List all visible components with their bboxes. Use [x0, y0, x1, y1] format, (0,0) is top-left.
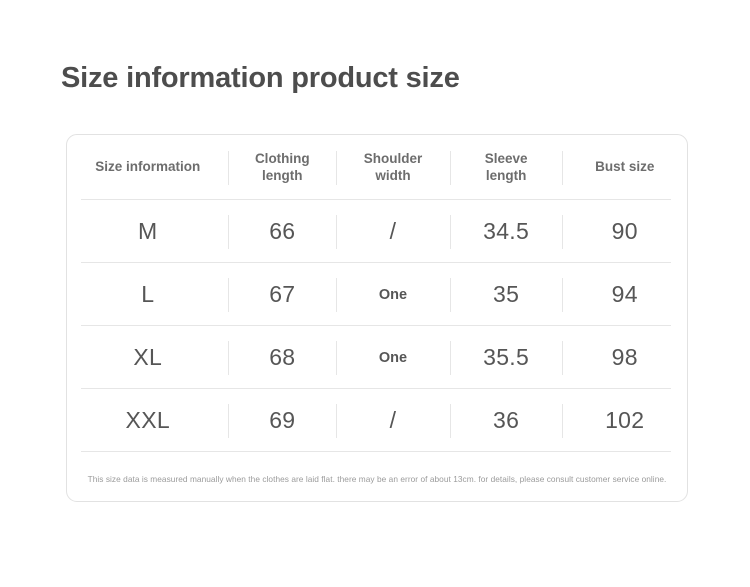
cell-shoulder-width: One	[336, 263, 450, 326]
cell-sleeve-length: 35	[450, 263, 563, 326]
size-table: Size information Clothing length Shoulde…	[67, 135, 687, 501]
table-footnote-row: This size data is measured manually when…	[67, 452, 687, 508]
page-title: Size information product size	[61, 62, 460, 95]
cell-bust-size: 94	[562, 263, 687, 326]
cell-shoulder-width: /	[336, 389, 450, 452]
table-row: XXL 69 / 36 102	[67, 389, 687, 452]
cell-bust-size: 102	[562, 389, 687, 452]
cell-shoulder-width: One	[336, 326, 450, 389]
header-label-line1: Size information	[95, 159, 200, 176]
header-label-line1: Shoulder	[364, 151, 423, 168]
header-cell-clothing-length: Clothing length	[228, 135, 336, 200]
cell-sleeve-length: 34.5	[450, 200, 563, 263]
size-chart-page: Size information product size Size infor…	[0, 0, 750, 587]
header-label-line1: Clothing	[255, 151, 310, 168]
cell-clothing-length: 69	[228, 389, 336, 452]
cell-size: M	[67, 200, 228, 263]
table-row: XL 68 One 35.5 98	[67, 326, 687, 389]
header-label-line2: width	[364, 168, 423, 185]
cell-clothing-length: 68	[228, 326, 336, 389]
header-label-line2: length	[255, 168, 310, 185]
header-cell-sleeve-length: Sleeve length	[450, 135, 563, 200]
header-label-line1: Bust size	[595, 159, 654, 176]
cell-size: XL	[67, 326, 228, 389]
header-cell-bust-size: Bust size	[562, 135, 687, 200]
measurement-disclaimer: This size data is measured manually when…	[88, 474, 667, 486]
cell-bust-size: 98	[562, 326, 687, 389]
header-cell-size-information: Size information	[67, 135, 228, 200]
cell-size: XXL	[67, 389, 228, 452]
cell-clothing-length: 67	[228, 263, 336, 326]
cell-sleeve-length: 35.5	[450, 326, 563, 389]
cell-shoulder-width: /	[336, 200, 450, 263]
table-header-row: Size information Clothing length Shoulde…	[67, 135, 687, 200]
header-label-line1: Sleeve	[485, 151, 528, 168]
size-information-card: Size information Clothing length Shoulde…	[66, 134, 688, 502]
cell-clothing-length: 66	[228, 200, 336, 263]
cell-sleeve-length: 36	[450, 389, 563, 452]
cell-size: L	[67, 263, 228, 326]
header-label-line2: length	[485, 168, 528, 185]
table-row: M 66 / 34.5 90	[67, 200, 687, 263]
header-cell-shoulder-width: Shoulder width	[336, 135, 450, 200]
cell-bust-size: 90	[562, 200, 687, 263]
table-row: L 67 One 35 94	[67, 263, 687, 326]
